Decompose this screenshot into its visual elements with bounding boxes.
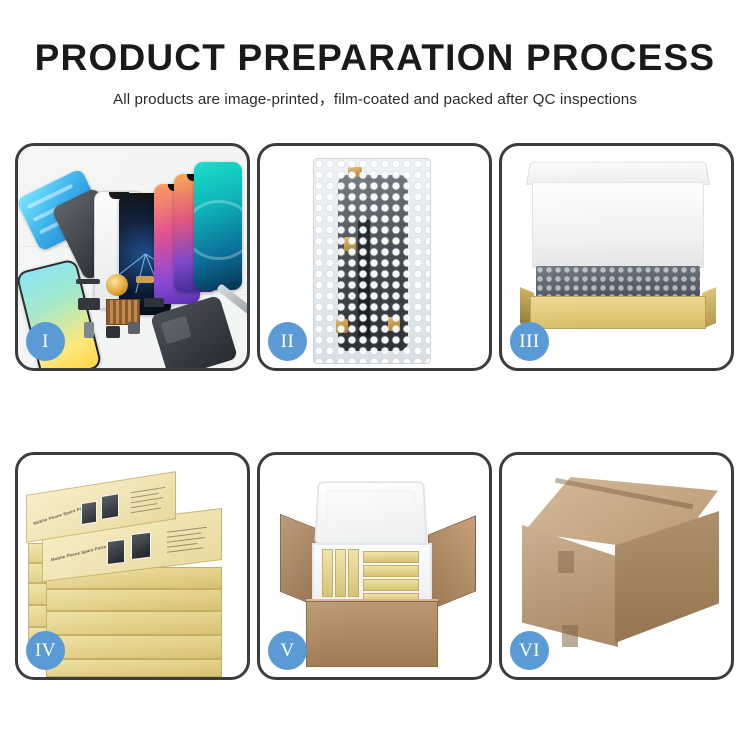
packed-box-3	[348, 549, 359, 597]
step-panel-2: II	[257, 143, 492, 371]
packed-box-2	[335, 549, 346, 597]
packed-box-1	[322, 549, 333, 597]
infographic-page: PRODUCT PREPARATION PROCESS All products…	[0, 0, 750, 750]
stacked-box-r3	[46, 611, 222, 635]
camera-module	[78, 298, 100, 310]
white-foam-sheet	[532, 182, 704, 268]
lcd-display-teal	[194, 162, 242, 290]
step-panel-4: Mobile Phone Spare Parts Mobile Phone Sp…	[15, 452, 250, 680]
packed-box-4	[363, 551, 419, 563]
step-panel-5: V	[257, 452, 492, 680]
box-product-image-1a	[81, 501, 97, 526]
bubble-wrap-bag	[313, 158, 431, 364]
stacked-box-r2	[46, 589, 222, 611]
process-step-grid: I II	[15, 143, 735, 733]
vibration-motor	[106, 274, 128, 296]
packed-box-5	[363, 565, 419, 577]
earpiece-speaker	[76, 279, 100, 284]
step-panel-3: III	[499, 143, 734, 371]
packed-box-6	[363, 579, 419, 591]
carton-tape-tab-bottom	[562, 625, 578, 647]
step-badge-3: III	[510, 322, 549, 361]
page-subtitle: All products are image-printed，film-coat…	[0, 87, 750, 109]
sim-tray	[84, 322, 94, 338]
stacked-box-r5	[46, 659, 222, 677]
step-panel-1: I	[15, 143, 250, 371]
step-panel-6: VI	[499, 452, 734, 680]
box-product-image-2b	[131, 532, 151, 560]
page-title: PRODUCT PREPARATION PROCESS	[0, 38, 750, 78]
stacked-box-r4	[46, 635, 222, 659]
box-label-text-2: Mobile Phone Spare Parts	[51, 544, 107, 562]
gold-connector	[136, 276, 154, 283]
charging-port	[106, 326, 120, 338]
carton-tape-tab-top	[558, 551, 574, 573]
flex-cable	[144, 298, 164, 307]
styrofoam-lid	[314, 481, 427, 545]
box-product-image-1b	[101, 493, 119, 520]
box-product-image-2a	[107, 539, 125, 565]
step-badge-4: IV	[26, 631, 65, 670]
step-badge-6: VI	[510, 631, 549, 670]
box-front-panel	[530, 296, 706, 329]
carton-front	[306, 601, 438, 667]
step-badge-2: II	[268, 322, 307, 361]
small-screw-set	[128, 322, 140, 334]
step-badge-1: I	[26, 322, 65, 361]
bubble-wrapped-contents	[536, 266, 700, 298]
step-badge-5: V	[268, 631, 307, 670]
bubble-texture	[314, 159, 430, 363]
header: PRODUCT PREPARATION PROCESS All products…	[0, 38, 750, 109]
carton-flap-right	[428, 515, 476, 610]
